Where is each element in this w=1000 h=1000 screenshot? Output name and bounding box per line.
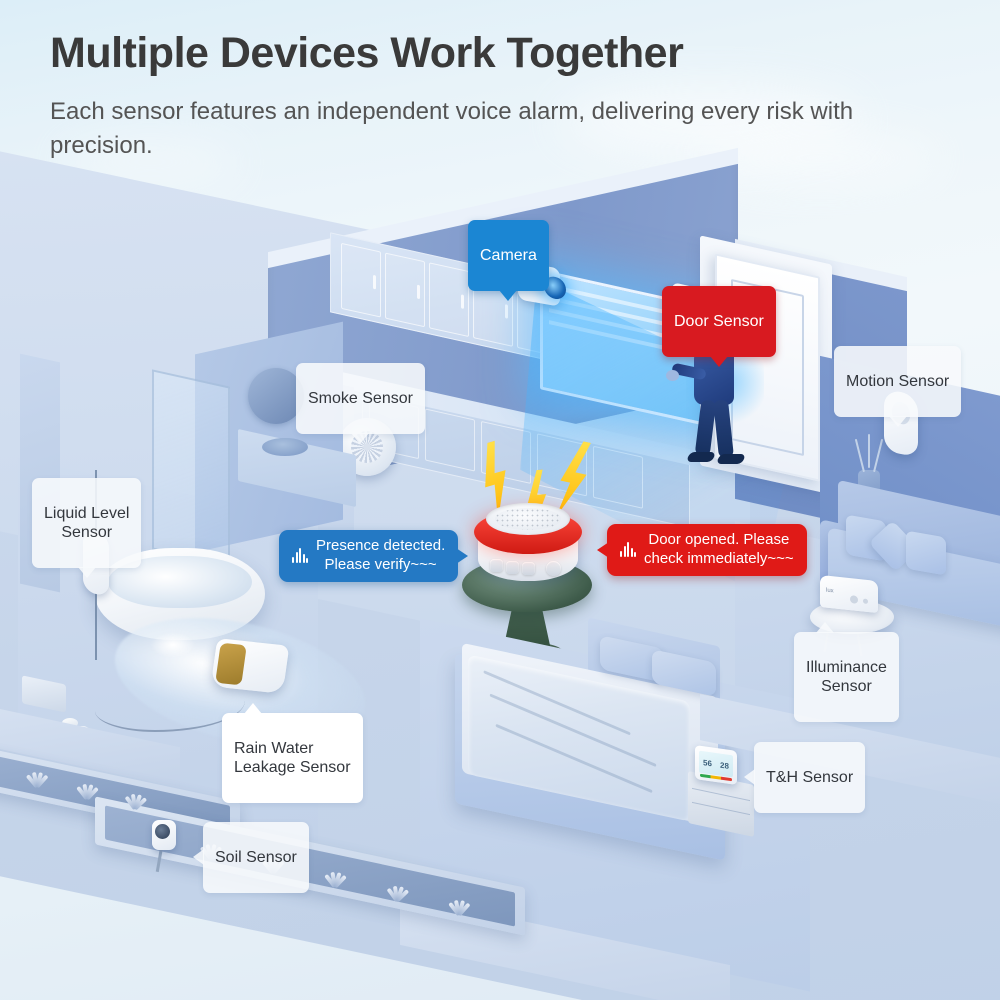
illuminance-sensor-device[interactable]: lux: [820, 575, 878, 613]
plant: [22, 770, 52, 800]
label-illuminance-sensor-text: Illuminance Sensor: [806, 659, 887, 696]
callout-tail: [499, 290, 517, 301]
label-soil-sensor-text: Soil Sensor: [215, 849, 297, 866]
label-door-sensor-text: Door Sensor: [674, 313, 764, 330]
plant: [444, 898, 474, 928]
plant: [120, 792, 150, 822]
sofa-pillow: [906, 530, 946, 575]
siren-button[interactable]: [506, 561, 519, 574]
label-smoke-sensor-text: Smoke Sensor: [308, 390, 413, 407]
label-camera[interactable]: Camera: [468, 220, 549, 291]
alert-door-text: Door opened. Please check immediately~~~: [644, 531, 794, 569]
label-liquid-level-sensor[interactable]: Liquid Level Sensor: [32, 478, 141, 568]
label-rain-water-leakage-sensor[interactable]: Rain Water Leakage Sensor: [222, 713, 363, 803]
page-header: Multiple Devices Work Together Each sens…: [0, 0, 1000, 163]
callout-tail: [78, 567, 96, 578]
alert-presence-text: Presence detected. Please verify~~~: [316, 537, 445, 575]
callout-tail: [193, 849, 204, 865]
label-smoke-sensor[interactable]: Smoke Sensor: [296, 363, 425, 434]
temperature-humidity-sensor-device[interactable]: 56 28: [695, 745, 737, 785]
page-subtitle: Each sensor features an independent voic…: [50, 95, 950, 163]
plant: [320, 870, 350, 900]
label-th-sensor-text: T&H Sensor: [766, 769, 853, 786]
soil-sensor-device[interactable]: [152, 820, 176, 850]
label-motion-sensor-text: Motion Sensor: [846, 373, 949, 390]
label-illuminance-sensor[interactable]: Illuminance Sensor: [794, 632, 899, 722]
siren-button[interactable]: [490, 559, 503, 572]
callout-tail: [744, 769, 755, 785]
callout-tail: [597, 542, 609, 558]
siren-power-button[interactable]: [546, 561, 561, 576]
callout-tail: [351, 433, 369, 444]
plant: [72, 782, 102, 812]
label-liquid-level-sensor-text: Liquid Level Sensor: [44, 505, 129, 542]
rain-water-leakage-sensor-device[interactable]: [211, 638, 290, 694]
soil-sensor-lens-icon: [155, 824, 170, 839]
shower-glass-panel: [152, 369, 230, 566]
page-title: Multiple Devices Work Together: [50, 30, 950, 77]
illuminance-indicator-dot: [863, 598, 868, 604]
callout-tail: [816, 622, 834, 633]
intruder-foot: [716, 454, 746, 464]
label-rain-water-leakage-sensor-text: Rain Water Leakage Sensor: [234, 740, 351, 777]
alarm-siren-top: [486, 503, 570, 535]
leak-sensor-face: [215, 643, 247, 686]
th-humidity-value: 56: [703, 758, 712, 768]
callout-tail: [456, 548, 468, 564]
plant: [382, 884, 412, 914]
alert-door-opened[interactable]: Door opened. Please check immediately~~~: [607, 524, 807, 576]
label-door-sensor[interactable]: Door Sensor: [662, 286, 776, 357]
callout-tail: [244, 703, 262, 714]
label-camera-text: Camera: [480, 247, 537, 264]
water-splash: [150, 632, 196, 658]
bathroom-basin: [262, 438, 308, 456]
plant: [0, 758, 2, 788]
label-motion-sensor[interactable]: Motion Sensor: [834, 346, 961, 417]
label-th-sensor[interactable]: T&H Sensor: [754, 742, 865, 813]
siren-speaker-mesh-icon: [495, 508, 561, 530]
sound-wave-icon: [292, 548, 308, 563]
intruder-hand: [666, 370, 679, 381]
sound-wave-icon: [620, 542, 636, 557]
intruder-foot: [686, 452, 716, 462]
siren-button[interactable]: [522, 562, 535, 575]
illuminance-badge-label: lux: [826, 588, 834, 595]
th-temperature-value: 28: [720, 760, 729, 770]
label-soil-sensor[interactable]: Soil Sensor: [203, 822, 309, 893]
callout-tail: [710, 356, 728, 367]
alert-presence-detected[interactable]: Presence detected. Please verify~~~: [279, 530, 458, 582]
twig: [868, 434, 870, 468]
illuminance-indicator-dot: [850, 595, 858, 604]
callout-tail: [889, 416, 907, 427]
